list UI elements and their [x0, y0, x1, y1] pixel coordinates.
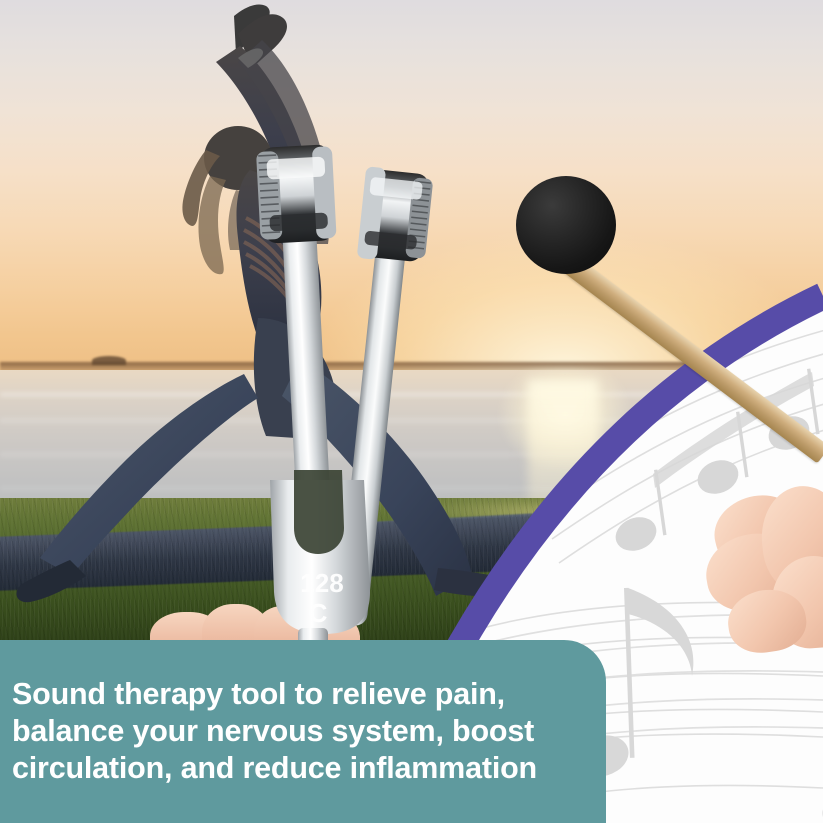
caption-line-1: Sound therapy tool to relieve pain,	[12, 676, 572, 713]
fork-frequency-label: 128	[300, 568, 343, 598]
caption-line-2: balance your nervous system, boost	[12, 713, 572, 750]
mallet-head	[516, 176, 616, 274]
fork-note-label: C	[309, 598, 328, 628]
product-banner: 128 C Sound therapy tool to relieve pain…	[0, 0, 823, 823]
caption-panel: Sound therapy tool to relieve pain, bala…	[0, 640, 606, 823]
tuning-fork: 128 C	[232, 140, 482, 660]
hand-holding-mallet	[700, 486, 823, 676]
caption-line-3: circulation, and reduce inflammation	[12, 750, 572, 787]
